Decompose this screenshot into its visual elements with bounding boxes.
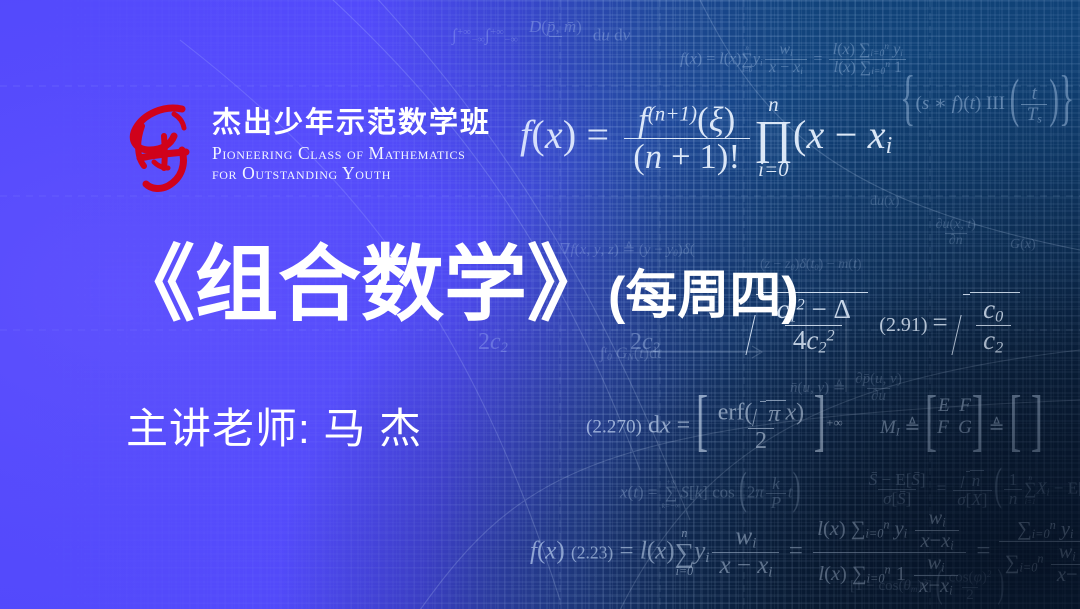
course-instructor: 主讲老师: 马 杰 <box>126 395 422 456</box>
brand-lockup: 杰出少年示范数学班 Pioneering Class of Mathematic… <box>124 100 491 192</box>
brand-text-block: 杰出少年示范数学班 Pioneering Class of Mathematic… <box>212 108 491 184</box>
calligraphic-shao-mark-icon <box>124 100 198 192</box>
course-title-row: 《组合数学》 (每周四) <box>112 243 799 326</box>
course-title-card: f(x) = f(n+1)(ξ)(n + 1)!n∏i=0(x − xi c12… <box>0 0 1080 609</box>
brand-name-cn: 杰出少年示范数学班 <box>212 108 491 139</box>
course-schedule: (每周四) <box>608 270 799 322</box>
brand-name-en-line1: Pioneering Class of Mathematics <box>212 143 491 164</box>
brand-name-en: Pioneering Class of Mathematics for Outs… <box>212 143 491 184</box>
page-title: 《组合数学》 <box>112 243 610 326</box>
brand-name-en-line2: for Outstanding Youth <box>212 163 491 184</box>
